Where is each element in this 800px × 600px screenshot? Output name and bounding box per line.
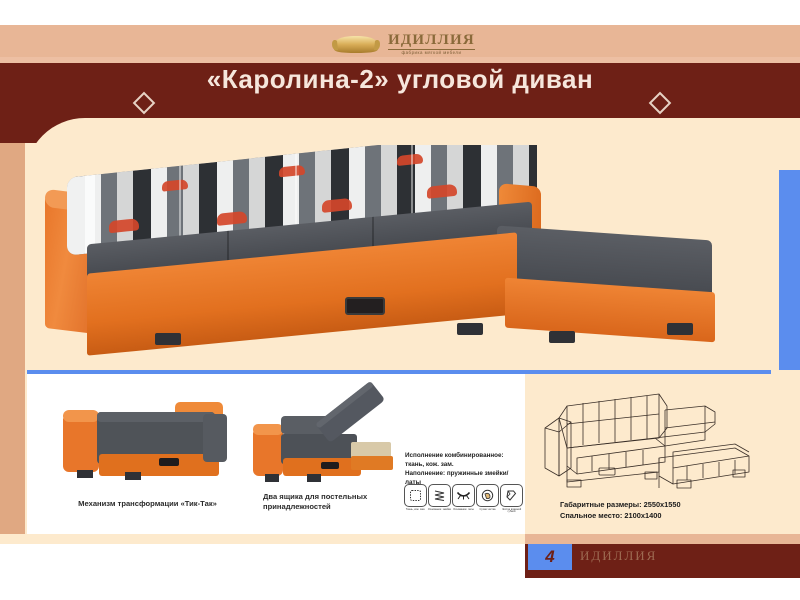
icon-label-spring: Основание: змейки	[428, 509, 452, 512]
blue-accent-strip	[779, 170, 800, 370]
sofa-leg-4	[667, 323, 693, 335]
technical-drawing	[537, 376, 777, 494]
sofa-logo-icon	[330, 30, 382, 58]
backrest-seam-3	[411, 145, 413, 220]
footer-left-white	[0, 544, 525, 578]
drawer-handle	[345, 297, 385, 315]
sofa-leg-1	[155, 333, 181, 345]
icon-label-damp-sponge: Чистка влажной губкой	[500, 509, 524, 515]
material-icons-row: Ткань, кож. зам. Основание: змейки Основ…	[405, 484, 525, 514]
page-number-badge: 4	[528, 544, 572, 570]
icon-cell-damp-sponge: Чистка влажной губкой	[501, 484, 522, 514]
damp-sponge-icon	[500, 484, 523, 507]
bottom-panel: Механизм трансформации «Тик-Так» Два ящи…	[27, 374, 771, 534]
page-number: 4	[545, 547, 554, 567]
backrest-seam-2	[295, 154, 297, 232]
icon-cell-slats: Основание: латы	[453, 484, 474, 514]
bottom-margin	[0, 578, 800, 600]
icon-label-dry-clean: Сухая чистка	[476, 509, 500, 512]
page-title: «Каролина-2» угловой диван	[0, 64, 800, 95]
brand-logo: ИДИЛЛИЯ фабрика мягкой мебели	[330, 27, 480, 61]
specs-line-1: Исполнение комбинированное:	[405, 452, 523, 461]
overall-dimensions: Габаритные размеры: 2550х1550	[560, 499, 775, 510]
sofa-leg-3	[549, 331, 575, 343]
logo-text-block: ИДИЛЛИЯ фабрика мягкой мебели	[388, 33, 475, 55]
logo-subtitle: фабрика мягкой мебели	[402, 51, 462, 55]
logo-name: ИДИЛЛИЯ	[388, 33, 475, 48]
spring-snake-icon	[428, 484, 451, 507]
dimensions-block: Габаритные размеры: 2550х1550 Спальное м…	[560, 499, 775, 521]
sofa-leg-2	[457, 323, 483, 335]
sleeping-dimensions: Спальное место: 2100х1400	[560, 510, 775, 521]
dry-cleaning-icon	[476, 484, 499, 507]
corner-sofa-illustration	[27, 145, 771, 372]
main-product-photo	[27, 145, 771, 372]
top-margin	[0, 0, 800, 25]
specs-text-block: Исполнение комбинированное: ткань, кож. …	[405, 452, 523, 488]
footer-left-cream	[0, 534, 525, 544]
thumbnail-storage-boxes	[247, 382, 399, 492]
icon-label-slats: Основание: латы	[452, 509, 476, 512]
icon-cell-dry-clean: Сухая чистка	[477, 484, 498, 514]
left-margin-column	[0, 143, 25, 563]
backrest-seam-1	[179, 166, 181, 244]
thumbnail-transform-mechanism	[55, 384, 230, 489]
catalog-page: ИДИЛЛИЯ фабрика мягкой мебели «Каролина-…	[0, 0, 800, 600]
footer-brand-name: ИДИЛЛИЯ	[580, 548, 657, 564]
icon-cell-spring: Основание: змейки	[429, 484, 450, 514]
specs-line-2: ткань, кож. зам.	[405, 461, 523, 470]
icon-label-fabric: Ткань, кож. зам.	[404, 509, 428, 512]
slats-icon	[452, 484, 475, 507]
fabric-leather-icon	[404, 484, 427, 507]
icon-cell-fabric: Ткань, кож. зам.	[405, 484, 426, 514]
caption-transform-mechanism: Механизм трансформации «Тик-Так»	[45, 499, 250, 509]
caption-storage-boxes: Два ящика для постельных принадлежностей	[263, 492, 403, 513]
